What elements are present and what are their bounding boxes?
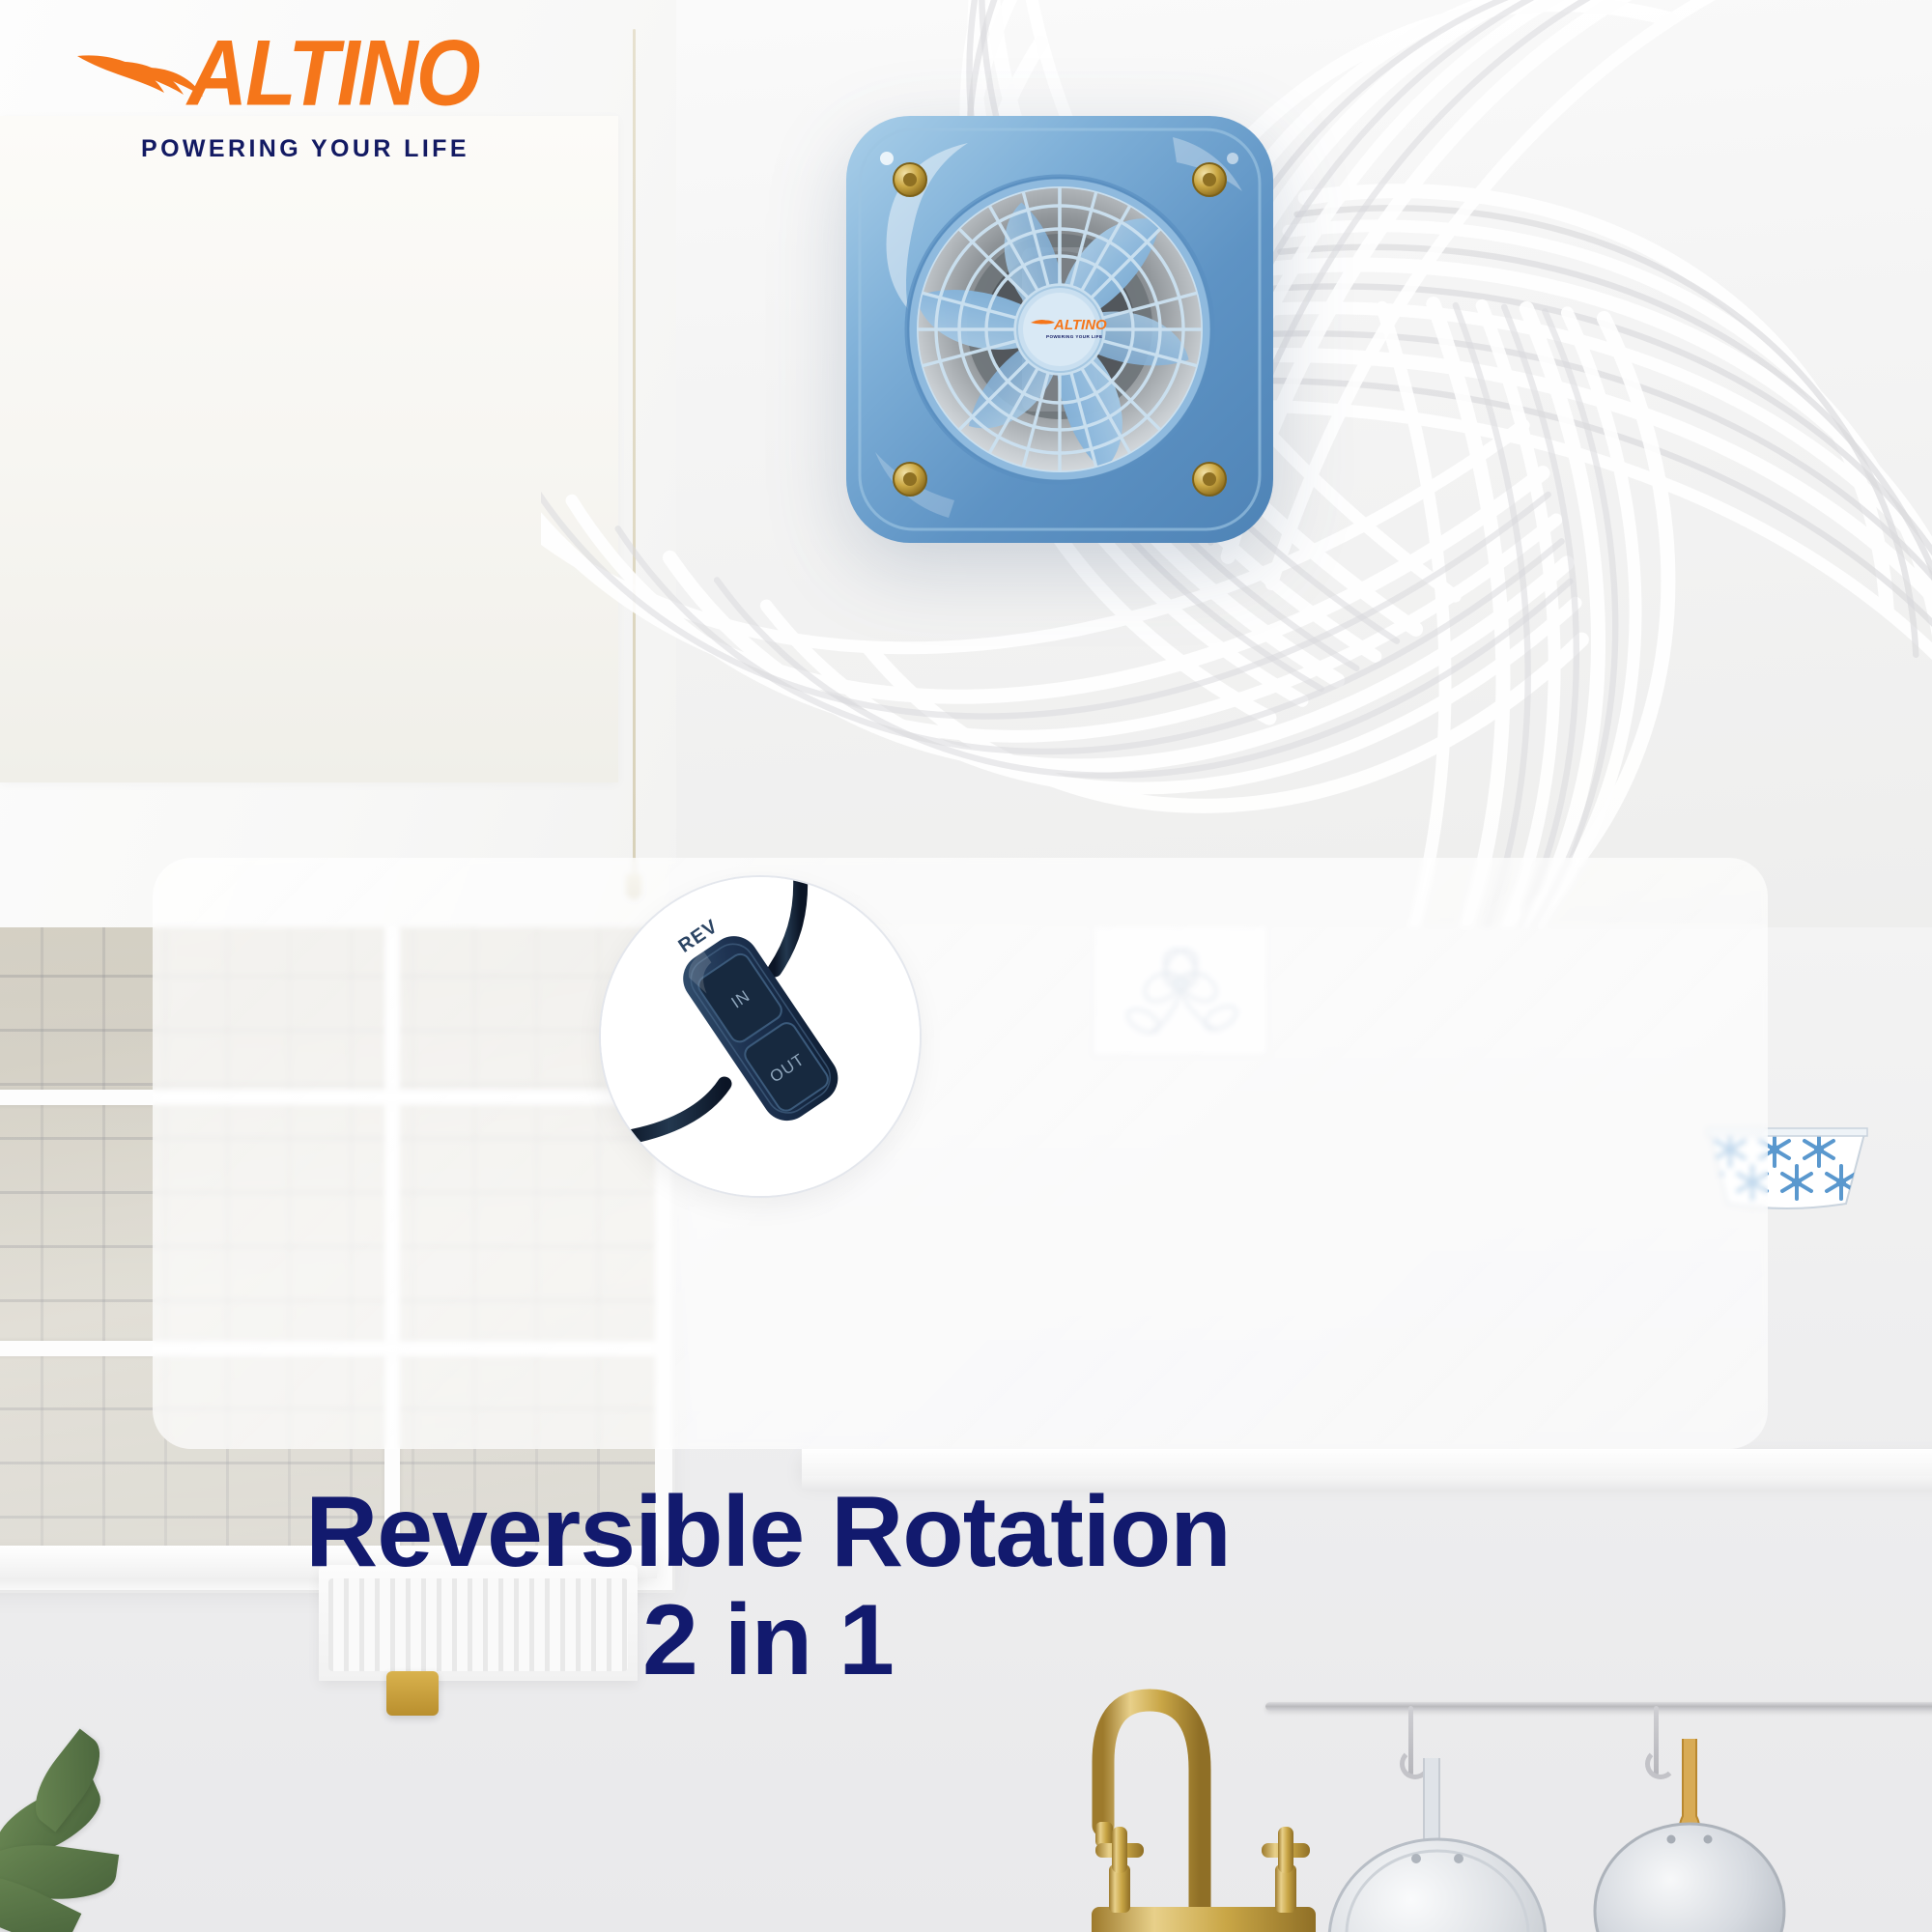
brand-wordmark: ALTINO [187,27,479,120]
frosted-glass-panel [153,858,1768,1449]
marketing-banner: ALTINO POWERING YOUR LIFE [0,0,1932,1932]
svg-text:ALTINO: ALTINO [1053,317,1107,333]
headline: Reversible Rotation 2 in 1 [0,1478,1536,1695]
window-blind [0,116,618,782]
exhaust-fan: ALTINO POWERING YOUR LIFE [833,102,1287,556]
svg-text:POWERING YOUR LIFE: POWERING YOUR LIFE [1046,334,1102,339]
headline-line-1: Reversible Rotation [305,1476,1231,1588]
brand-tagline: POWERING YOUR LIFE [141,135,469,163]
reversible-switch-inset: IN OUT REV [601,877,920,1196]
brand-logo: ALTINO POWERING YOUR LIFE [75,27,491,172]
wall-shelf [802,1449,1932,1478]
copper-bottom-pan [1559,1739,1820,1932]
pot-hanging-rail [1265,1702,1932,1711]
blind-cord [633,29,636,879]
brass-faucet [1053,1662,1352,1932]
headline-line-2: 2 in 1 [0,1586,1536,1694]
potted-plant [0,1739,222,1932]
